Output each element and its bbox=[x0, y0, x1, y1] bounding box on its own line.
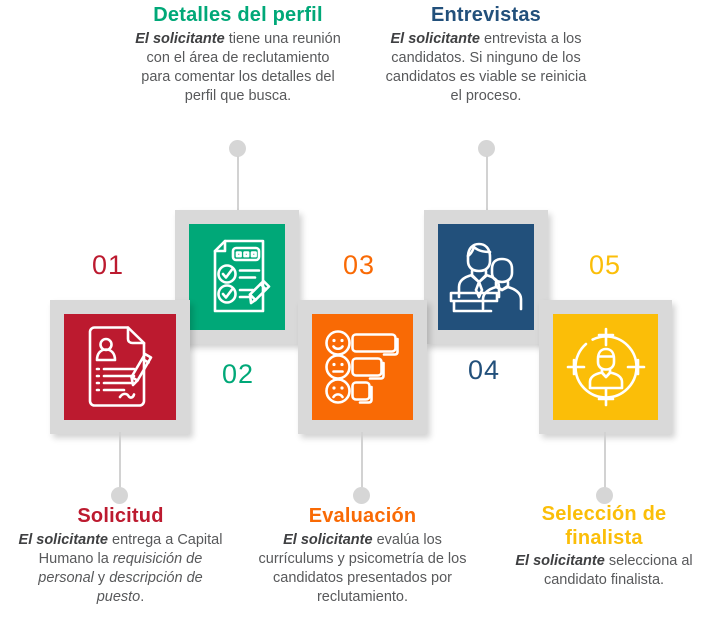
interview-people-desk-icon bbox=[445, 239, 527, 315]
step-desc-lead-01: El solicitante bbox=[19, 532, 108, 548]
step-text-block-01: Solicitud El solicitante entrega a Capit… bbox=[14, 505, 227, 607]
step-number-03: 03 bbox=[343, 252, 375, 279]
step-card-03[interactable] bbox=[298, 300, 427, 434]
connector-line-03 bbox=[361, 432, 363, 490]
resume-document-pen-icon bbox=[82, 324, 158, 410]
step-title-03: Evaluación bbox=[256, 505, 469, 529]
step-desc-italic2-01: descripción de puesto bbox=[97, 570, 203, 605]
step-title-05: Selección de finalista bbox=[505, 503, 703, 550]
connector-line-02 bbox=[237, 156, 239, 211]
step-desc-lead-03: El solicitante bbox=[283, 532, 372, 548]
step-card-inner-01 bbox=[64, 314, 176, 420]
step-card-inner-03 bbox=[312, 314, 413, 420]
step-text-block-02: Detalles del perfil El solicitante tiene… bbox=[133, 4, 343, 106]
step-description-03: El solicitante evalúa los currículums y … bbox=[256, 531, 469, 608]
step-desc-lead-04: El solicitante bbox=[390, 31, 479, 47]
step-number-01: 01 bbox=[92, 252, 124, 279]
step-desc-lead-02: El solicitante bbox=[135, 31, 224, 47]
survey-rating-faces-icon bbox=[324, 330, 402, 404]
target-person-icon bbox=[566, 327, 646, 407]
step-text-block-04: Entrevistas El solicitante entrevista a … bbox=[381, 4, 591, 106]
connector-line-04 bbox=[486, 156, 488, 211]
step-card-inner-02 bbox=[189, 224, 285, 330]
step-card-inner-05 bbox=[553, 314, 658, 420]
step-number-04: 04 bbox=[468, 357, 500, 384]
step-card-04[interactable] bbox=[424, 210, 548, 344]
step-card-inner-04 bbox=[438, 224, 534, 330]
connector-dot-03 bbox=[353, 487, 370, 504]
step-card-01[interactable] bbox=[50, 300, 190, 434]
step-title-02: Detalles del perfil bbox=[133, 4, 343, 28]
step-description-04: El solicitante entrevista a los candidat… bbox=[381, 30, 591, 107]
step-number-02: 02 bbox=[222, 361, 254, 388]
step-text-block-03: Evaluación El solicitante evalúa los cur… bbox=[256, 505, 469, 607]
step-text-block-05: Selección de finalista El solicitante se… bbox=[505, 503, 703, 590]
step-desc-lead-05: El solicitante bbox=[515, 553, 604, 569]
checklist-pencil-icon bbox=[201, 237, 273, 317]
step-desc-end-01: . bbox=[140, 589, 144, 605]
step-title-04: Entrevistas bbox=[381, 4, 591, 28]
connector-dot-04 bbox=[478, 140, 495, 157]
step-number-05: 05 bbox=[589, 252, 621, 279]
connector-dot-02 bbox=[229, 140, 246, 157]
step-description-02: El solicitante tiene una reunión con el … bbox=[133, 30, 343, 107]
connector-line-05 bbox=[604, 432, 606, 490]
step-desc-mid-01: y bbox=[94, 570, 109, 586]
step-title-01: Solicitud bbox=[14, 505, 227, 529]
step-description-05: El solicitante selecciona al candidato f… bbox=[505, 552, 703, 590]
connector-dot-05 bbox=[596, 487, 613, 504]
infographic-canvas: Detalles del perfil El solicitante tiene… bbox=[0, 0, 719, 640]
step-description-01: El solicitante entrega a Capital Humano … bbox=[14, 531, 227, 608]
step-card-02[interactable] bbox=[175, 210, 299, 344]
connector-dot-01 bbox=[111, 487, 128, 504]
step-card-05[interactable] bbox=[539, 300, 672, 434]
connector-line-01 bbox=[119, 432, 121, 490]
